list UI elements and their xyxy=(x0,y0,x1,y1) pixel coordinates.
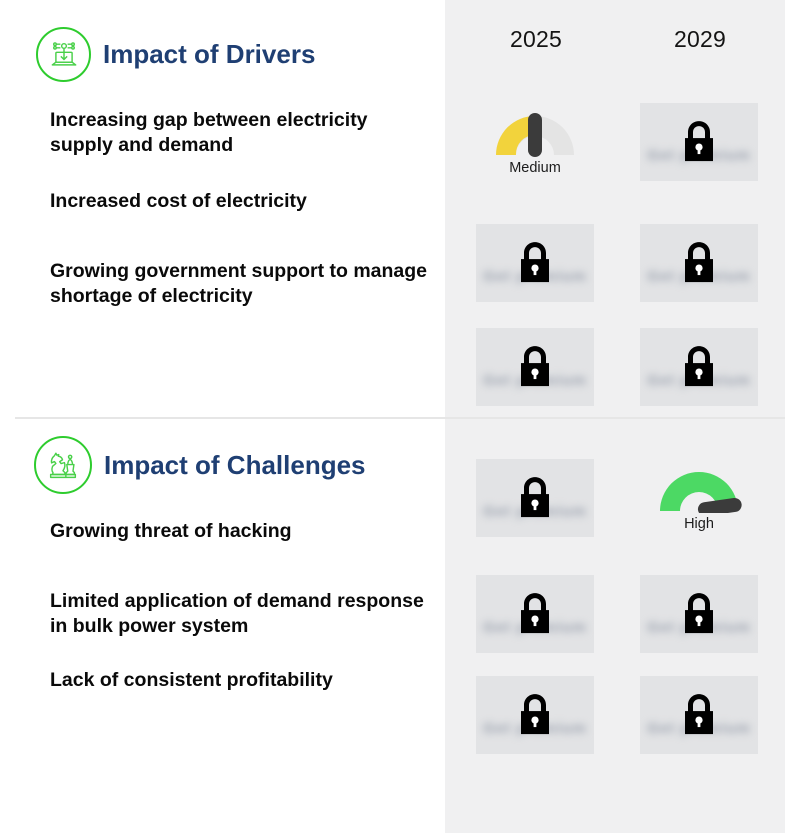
section-title-drivers: Impact of Drivers xyxy=(103,39,315,70)
locked-tile[interactable]: Get premium xyxy=(640,575,758,653)
lock-icon xyxy=(515,239,555,285)
cell-drivers-r0-2029[interactable]: Get premium xyxy=(640,103,758,181)
locked-tile[interactable]: Get premium xyxy=(476,575,594,653)
driver-bullet-1: Increasing gap between electricity suppl… xyxy=(50,108,430,158)
laptop-download-gear-icon xyxy=(36,27,91,82)
gauge-high-label: High xyxy=(684,516,714,532)
driver-bullet-2: Increased cost of electricity xyxy=(50,189,430,214)
cell-challenges-r0-2029[interactable]: High xyxy=(640,459,758,537)
locked-tile[interactable]: Get premium xyxy=(640,328,758,406)
section-divider xyxy=(15,417,785,419)
gauge-high-svg xyxy=(656,463,742,513)
locked-tile[interactable]: Get premium xyxy=(640,676,758,754)
locked-tile[interactable]: Get premium xyxy=(640,103,758,181)
gauge-medium-svg xyxy=(492,107,578,157)
challenge-bullet-2: Limited application of demand response i… xyxy=(50,589,430,639)
cell-drivers-r0-2025[interactable]: Medium xyxy=(476,103,594,181)
cell-drivers-r2-2029[interactable]: Get premium xyxy=(640,328,758,406)
lock-icon xyxy=(515,590,555,636)
impact-matrix-page: 2025 2029 Medium Get premium xyxy=(0,0,800,833)
locked-tile[interactable]: Get premium xyxy=(476,328,594,406)
lock-icon xyxy=(515,691,555,737)
lock-icon xyxy=(515,474,555,520)
cell-drivers-r1-2029[interactable]: Get premium xyxy=(640,224,758,302)
column-header-2025: 2025 xyxy=(476,26,596,53)
driver-bullet-3: Growing government support to manage sho… xyxy=(50,259,430,309)
lock-icon xyxy=(679,691,719,737)
locked-tile[interactable]: Get premium xyxy=(476,459,594,537)
challenge-bullet-3: Lack of consistent profitability xyxy=(50,668,430,693)
cell-challenges-r0-2025[interactable]: Get premium xyxy=(476,459,594,537)
lock-icon xyxy=(679,343,719,389)
section-header-drivers: Impact of Drivers xyxy=(36,27,315,82)
cell-drivers-r2-2025[interactable]: Get premium xyxy=(476,328,594,406)
section-title-challenges: Impact of Challenges xyxy=(104,450,366,481)
gauge-medium-label: Medium xyxy=(509,160,561,176)
lock-icon xyxy=(679,239,719,285)
cell-challenges-r2-2025[interactable]: Get premium xyxy=(476,676,594,754)
lock-icon xyxy=(679,118,719,164)
gauge-high: High xyxy=(640,459,758,537)
challenge-bullet-1: Growing threat of hacking xyxy=(50,519,430,544)
locked-tile[interactable]: Get premium xyxy=(476,676,594,754)
gauge-medium: Medium xyxy=(476,103,594,181)
locked-tile[interactable]: Get premium xyxy=(640,224,758,302)
column-header-2029: 2029 xyxy=(640,26,760,53)
cell-challenges-r2-2029[interactable]: Get premium xyxy=(640,676,758,754)
cell-challenges-r1-2025[interactable]: Get premium xyxy=(476,575,594,653)
lock-icon xyxy=(679,590,719,636)
locked-tile[interactable]: Get premium xyxy=(476,224,594,302)
cell-challenges-r1-2029[interactable]: Get premium xyxy=(640,575,758,653)
lock-icon xyxy=(515,343,555,389)
cell-drivers-r1-2025[interactable]: Get premium xyxy=(476,224,594,302)
chess-pieces-icon xyxy=(34,436,92,494)
section-header-challenges: Impact of Challenges xyxy=(34,436,366,494)
